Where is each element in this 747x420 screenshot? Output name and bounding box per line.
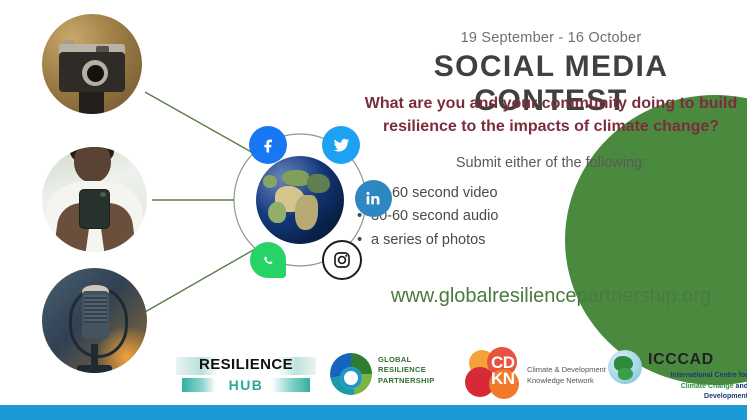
grp-line-1: GLOBAL xyxy=(378,355,435,365)
website-url[interactable]: www.globalresiliencepartnership.org xyxy=(355,285,747,308)
grp-ring-hole xyxy=(340,367,362,389)
subtitle-line-1: What are you and your community doing to… xyxy=(355,93,747,116)
grp-line-2: RESILIENCE xyxy=(378,365,435,375)
icccad-logo: ICCCAD International Centre for Climate … xyxy=(608,347,747,401)
cdkn-logo: CD KN Climate & Development Knowledge Ne… xyxy=(465,347,620,401)
camera-base xyxy=(79,92,104,114)
global-resilience-partnership-logo: GLOBAL RESILIENCE PARTNERSHIP xyxy=(330,349,450,399)
facebook-icon[interactable] xyxy=(249,126,287,164)
cdkn-initials-line-2: KN xyxy=(491,371,515,387)
camera-photo xyxy=(42,14,142,114)
globe-landmass xyxy=(295,195,318,230)
resilience-hub-line-1: RESILIENCE xyxy=(176,356,316,373)
icccad-globe-land xyxy=(618,368,633,380)
icccad-tagline-line-1: International Centre for xyxy=(648,371,747,382)
grp-line-3: PARTNERSHIP xyxy=(378,376,435,386)
grp-wordmark: GLOBAL RESILIENCE PARTNERSHIP xyxy=(378,355,435,386)
submission-options: 30-60 second video 30-60 second audio a … xyxy=(355,182,747,252)
cdkn-initials: CD KN xyxy=(491,355,515,387)
linkedin-icon[interactable] xyxy=(355,180,392,217)
camera-lens-inner xyxy=(87,65,104,82)
list-item: a series of photos xyxy=(355,229,498,252)
poster-text-column: 19 September - 16 October SOCIAL MEDIA C… xyxy=(355,0,747,340)
cdkn-tagline: Climate & Development Knowledge Network xyxy=(527,364,606,387)
globe-landmass xyxy=(307,174,330,193)
resilience-hub-logo: RESILIENCE HUB xyxy=(176,351,316,397)
person-head xyxy=(74,147,112,183)
instagram-icon[interactable] xyxy=(322,240,362,280)
icccad-tagline-and: and xyxy=(734,383,747,390)
poster-canvas: 19 September - 16 October SOCIAL MEDIA C… xyxy=(0,0,747,420)
whatsapp-icon[interactable] xyxy=(250,242,286,278)
icccad-wordmark: ICCCAD xyxy=(648,351,714,369)
icccad-tagline-line-3: Development xyxy=(648,392,747,403)
phone-photo-art xyxy=(42,147,147,252)
microphone-grill xyxy=(84,295,107,322)
resilience-hub-line-2: HUB xyxy=(176,377,316,393)
twitter-icon[interactable] xyxy=(322,126,360,164)
globe-landmass xyxy=(268,202,286,223)
subtitle-question: What are you and your community doing to… xyxy=(355,93,747,138)
bottom-blue-bar xyxy=(0,405,747,420)
grp-ring-icon xyxy=(330,353,372,395)
camera-photo-art xyxy=(42,14,142,114)
icccad-tagline-line-2: Climate Change and xyxy=(648,382,747,393)
subtitle-line-2: resilience to the impacts of climate cha… xyxy=(355,116,747,139)
submit-label: Submit either of the following: xyxy=(355,155,747,171)
globe-landmass xyxy=(282,170,308,186)
earth-globe xyxy=(256,156,344,244)
icccad-tagline: International Centre for Climate Change … xyxy=(648,371,747,403)
partner-logo-strip: RESILIENCE HUB GLOBAL RESILIENCE PARTNER… xyxy=(0,343,747,405)
date-range: 19 September - 16 October xyxy=(355,30,747,46)
phone-photo xyxy=(42,147,147,252)
cdkn-tagline-line-1: Climate & Development xyxy=(527,364,606,375)
icccad-globe-icon xyxy=(608,350,642,384)
globe-landmass xyxy=(263,175,277,187)
icccad-tagline-highlight: Climate Change xyxy=(681,383,734,390)
cdkn-tagline-line-2: Knowledge Network xyxy=(527,375,606,386)
